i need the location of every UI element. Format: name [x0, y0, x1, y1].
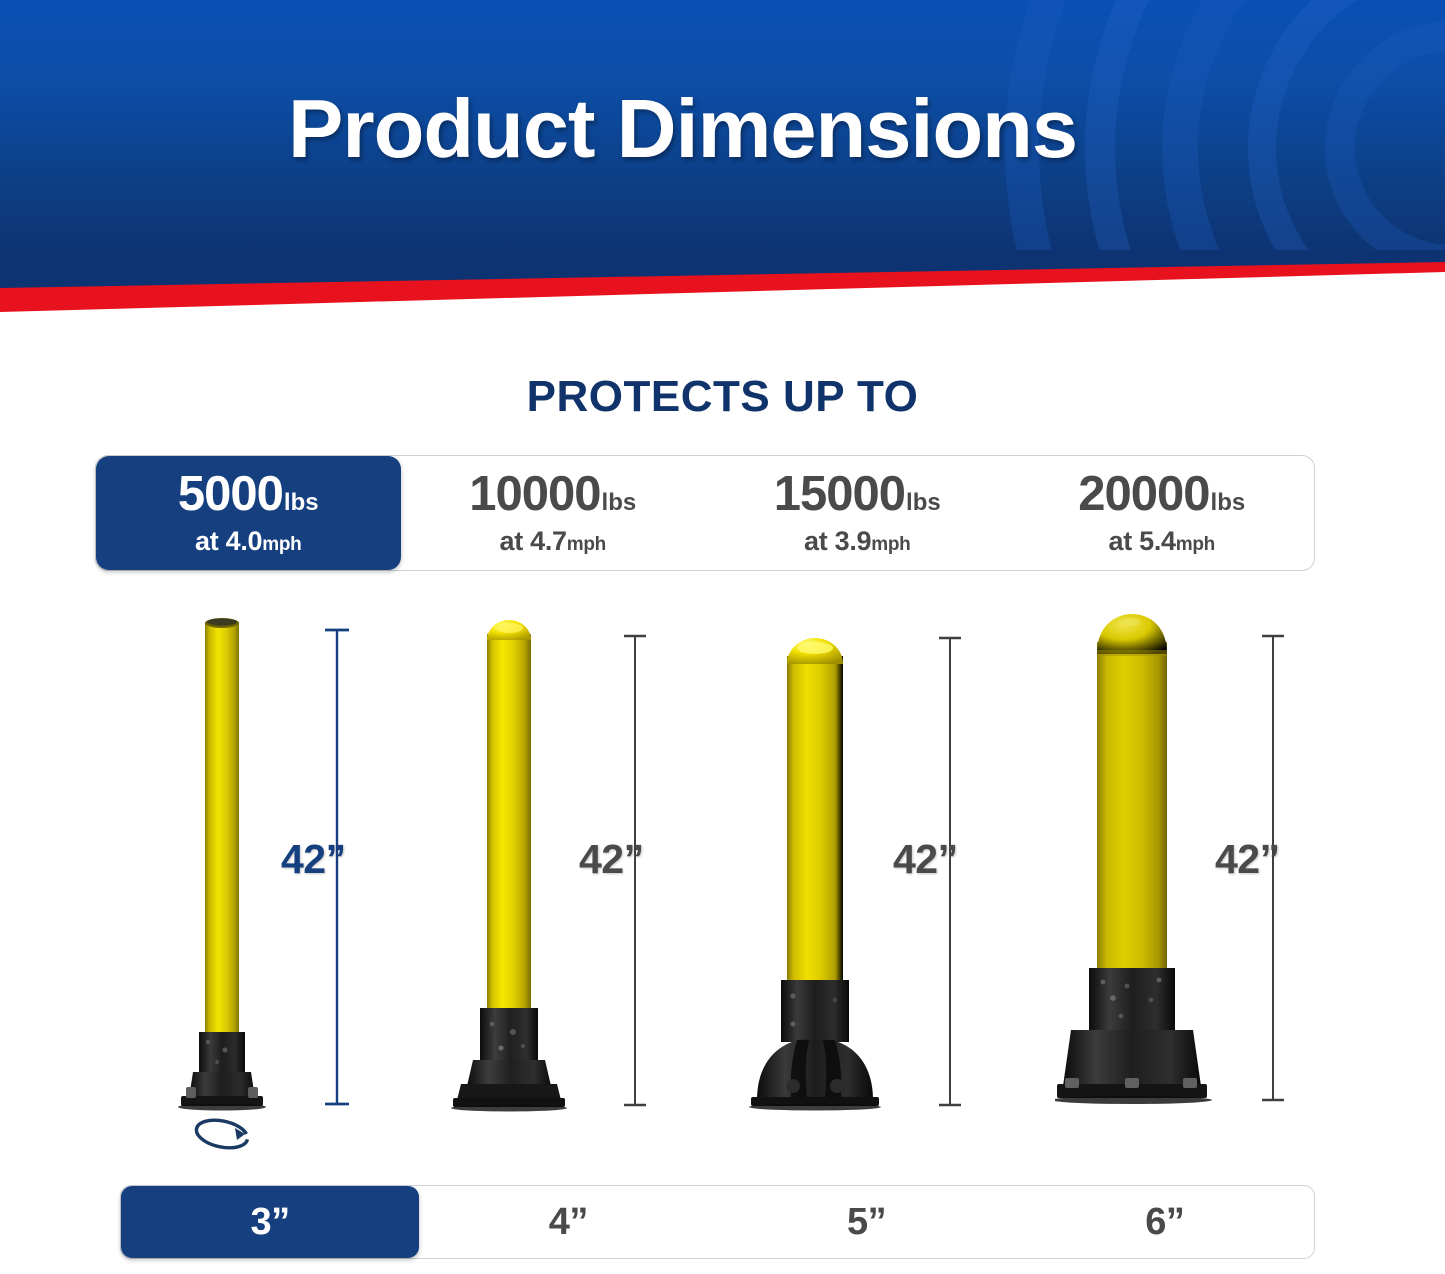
rating-weight-value: 15000: [774, 470, 905, 519]
rating-option-15000lbs[interactable]: 15000 lbs at 3.9mph: [705, 456, 1010, 570]
diameter-option-3in[interactable]: 3”: [121, 1186, 419, 1258]
rating-speed-unit: mph: [262, 534, 301, 555]
rating-speed-group: at 4.0mph: [195, 526, 301, 557]
height-label-3in: 42”: [281, 836, 346, 883]
height-label-5in: 42”: [893, 836, 958, 883]
diameter-option-6in[interactable]: 6”: [1016, 1186, 1314, 1258]
rating-speed-prefix: at: [500, 526, 531, 556]
rating-weight-unit: lbs: [906, 489, 941, 517]
rating-weight-group: 10000 lbs: [469, 470, 636, 519]
rating-speed-unit: mph: [1176, 534, 1215, 555]
rating-speed-group: at 5.4mph: [1109, 526, 1215, 557]
rating-weight-value: 10000: [469, 470, 600, 519]
rating-weight-unit: lbs: [284, 489, 319, 517]
rating-speed-value: 3.9: [835, 526, 872, 556]
rating-speed-value: 4.0: [226, 526, 263, 556]
rating-weight-unit: lbs: [602, 489, 637, 517]
rating-speed-unit: mph: [871, 534, 910, 555]
height-label-4in: 42”: [579, 836, 644, 883]
diameter-option-4in[interactable]: 4”: [419, 1186, 717, 1258]
rating-weight-value: 20000: [1078, 470, 1209, 519]
page-title: Product Dimensions: [0, 0, 1445, 258]
rating-weight-group: 5000 lbs: [178, 470, 319, 519]
red-accent-stripe: [0, 250, 1445, 312]
rating-weight-value: 5000: [178, 470, 283, 519]
rating-option-5000lbs[interactable]: 5000 lbs at 4.0mph: [96, 456, 401, 570]
bollard-column-4in: 42”: [443, 600, 713, 1160]
bollard-column-3in: 42”: [155, 600, 415, 1160]
rating-speed-group: at 3.9mph: [804, 526, 910, 557]
bollard-column-6in: 42”: [1055, 600, 1355, 1160]
rating-speed-value: 4.7: [530, 526, 567, 556]
height-label-6in: 42”: [1215, 836, 1280, 883]
rating-speed-unit: mph: [567, 534, 606, 555]
rating-speed-prefix: at: [1109, 526, 1140, 556]
rating-weight-group: 20000 lbs: [1078, 470, 1245, 519]
rating-weight-group: 15000 lbs: [774, 470, 941, 519]
rating-option-10000lbs[interactable]: 10000 lbs at 4.7mph: [401, 456, 706, 570]
bollard-illustration-6in: [1055, 600, 1355, 1160]
bollard-illustration-5in: [745, 600, 1035, 1160]
rating-weight-unit: lbs: [1211, 489, 1246, 517]
bollard-column-5in: 42”: [745, 600, 1035, 1160]
impact-rating-selector[interactable]: 5000 lbs at 4.0mph 10000 lbs at 4.7mph 1…: [95, 455, 1315, 571]
bollard-comparison-stage: 42”: [95, 600, 1350, 1160]
product-dimensions-infographic: Product Dimensions PROTECTS UP TO 5000 l…: [0, 0, 1445, 1274]
rating-speed-prefix: at: [804, 526, 835, 556]
rating-option-20000lbs[interactable]: 20000 lbs at 5.4mph: [1010, 456, 1315, 570]
rating-speed-prefix: at: [195, 526, 226, 556]
diameter-option-5in[interactable]: 5”: [718, 1186, 1016, 1258]
rating-speed-group: at 4.7mph: [500, 526, 606, 557]
page-header: Product Dimensions: [0, 0, 1445, 258]
rotate-arrow-icon: [194, 1116, 250, 1152]
rating-speed-value: 5.4: [1139, 526, 1176, 556]
diameter-selector[interactable]: 3” 4” 5” 6”: [120, 1185, 1315, 1259]
bollard-illustration-4in: [443, 600, 713, 1160]
protects-up-to-heading: PROTECTS UP TO: [0, 372, 1445, 422]
